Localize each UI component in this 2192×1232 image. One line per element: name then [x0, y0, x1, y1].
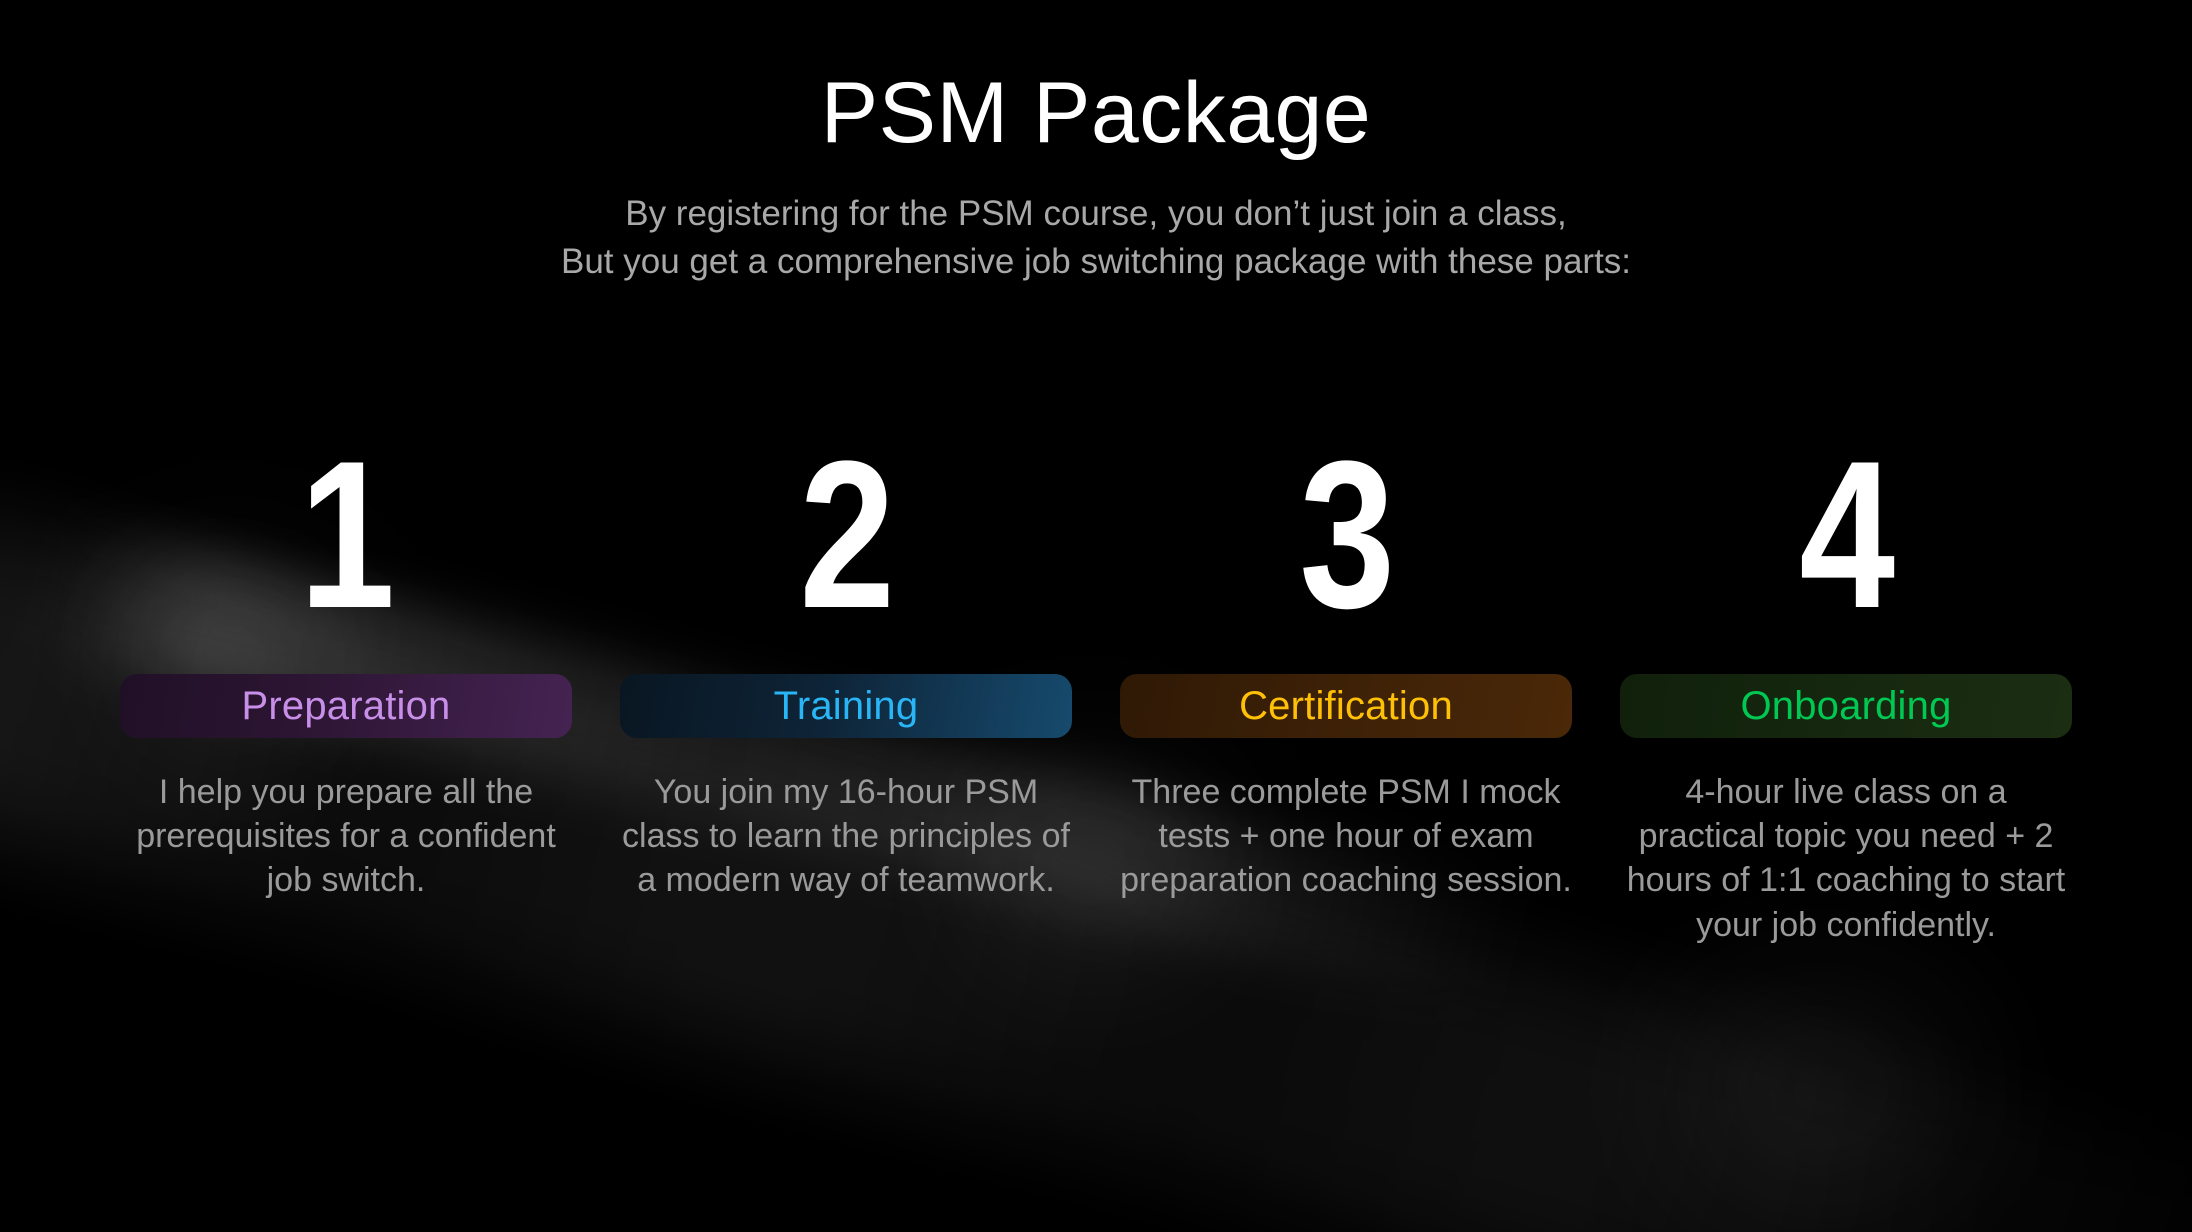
subtitle-line-1: By registering for the PSM course, you d…	[0, 190, 2192, 238]
step-column-training: 2 Training You join my 16-hour PSM class…	[620, 430, 1072, 903]
step-number-2: 2	[799, 430, 893, 640]
step-number-1: 1	[299, 430, 393, 640]
badge-training[interactable]: Training	[620, 674, 1072, 738]
badge-preparation[interactable]: Preparation	[120, 674, 572, 738]
step-number-4: 4	[1799, 430, 1893, 640]
slide-root: PSM Package By registering for the PSM c…	[0, 0, 2192, 1232]
slide-header: PSM Package By registering for the PSM c…	[0, 70, 2192, 287]
package-steps-row: 1 Preparation I help you prepare all the…	[120, 430, 2072, 947]
badge-onboarding[interactable]: Onboarding	[1620, 674, 2072, 738]
step-description-4: 4-hour live class on a practical topic y…	[1620, 770, 2072, 947]
step-description-2: You join my 16-hour PSM class to learn t…	[620, 770, 1072, 903]
step-description-1: I help you prepare all the prerequisites…	[120, 770, 572, 903]
subtitle-line-2: But you get a comprehensive job switchin…	[0, 238, 2192, 286]
slide-subtitle: By registering for the PSM course, you d…	[0, 190, 2192, 287]
glow-spot-right	[1560, 960, 2080, 1220]
step-column-certification: 3 Certification Three complete PSM I moc…	[1120, 430, 1572, 903]
step-column-preparation: 1 Preparation I help you prepare all the…	[120, 430, 572, 903]
step-description-3: Three complete PSM I mock tests + one ho…	[1120, 770, 1572, 903]
step-number-3: 3	[1299, 430, 1393, 640]
page-title: PSM Package	[0, 70, 2192, 156]
badge-certification[interactable]: Certification	[1120, 674, 1572, 738]
step-column-onboarding: 4 Onboarding 4-hour live class on a prac…	[1620, 430, 2072, 947]
